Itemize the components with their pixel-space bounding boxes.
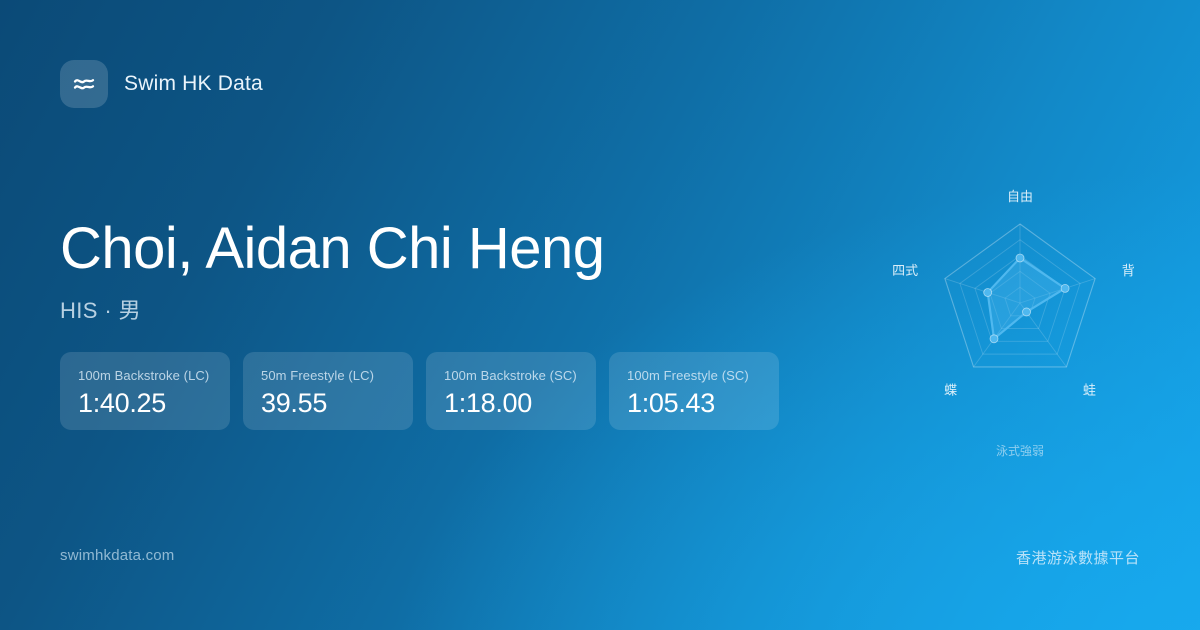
stat-card-label: 50m Freestyle (LC)	[261, 368, 395, 383]
radar-axis-label: 背	[1122, 264, 1135, 279]
stat-card-label: 100m Freestyle (SC)	[627, 368, 761, 383]
radar-svg: 自由背蛙蝶四式 泳式強弱	[870, 168, 1170, 478]
stat-card[interactable]: 100m Freestyle (SC) 1:05.43	[609, 352, 779, 430]
athlete-meta: HIS · 男	[60, 293, 605, 325]
stat-card-value: 1:18.00	[444, 390, 578, 417]
stat-card-label: 100m Backstroke (LC)	[78, 368, 212, 383]
radar-axis-label: 四式	[892, 264, 918, 279]
radar-axis-label: 蝶	[944, 384, 957, 399]
radar-axis-label: 蛙	[1083, 384, 1096, 399]
stat-card-list: 100m Backstroke (LC) 1:40.25 50m Freesty…	[60, 352, 779, 430]
brand-header[interactable]: Swim HK Data	[60, 60, 263, 108]
stat-card[interactable]: 100m Backstroke (SC) 1:18.00	[426, 352, 596, 430]
stat-card-value: 1:05.43	[627, 390, 761, 417]
stroke-strength-radar-chart: 自由背蛙蝶四式 泳式強弱	[870, 168, 1170, 478]
hero-block: Choi, Aidan Chi Heng HIS · 男	[60, 218, 605, 325]
stat-card[interactable]: 100m Backstroke (LC) 1:40.25	[60, 352, 230, 430]
stat-card-value: 39.55	[261, 390, 395, 417]
stat-card-label: 100m Backstroke (SC)	[444, 368, 578, 383]
wave-approx-icon	[60, 60, 108, 108]
footer-site-url[interactable]: swimhkdata.com	[60, 547, 175, 564]
stat-card[interactable]: 50m Freestyle (LC) 39.55	[243, 352, 413, 430]
radar-caption: 泳式強弱	[996, 444, 1044, 458]
brand-name: Swim HK Data	[124, 72, 263, 96]
radar-axis-label: 自由	[1007, 190, 1033, 205]
page-title: Choi, Aidan Chi Heng	[60, 218, 605, 281]
footer-tagline: 香港游泳數據平台	[1016, 547, 1140, 568]
stat-card-value: 1:40.25	[78, 390, 212, 417]
